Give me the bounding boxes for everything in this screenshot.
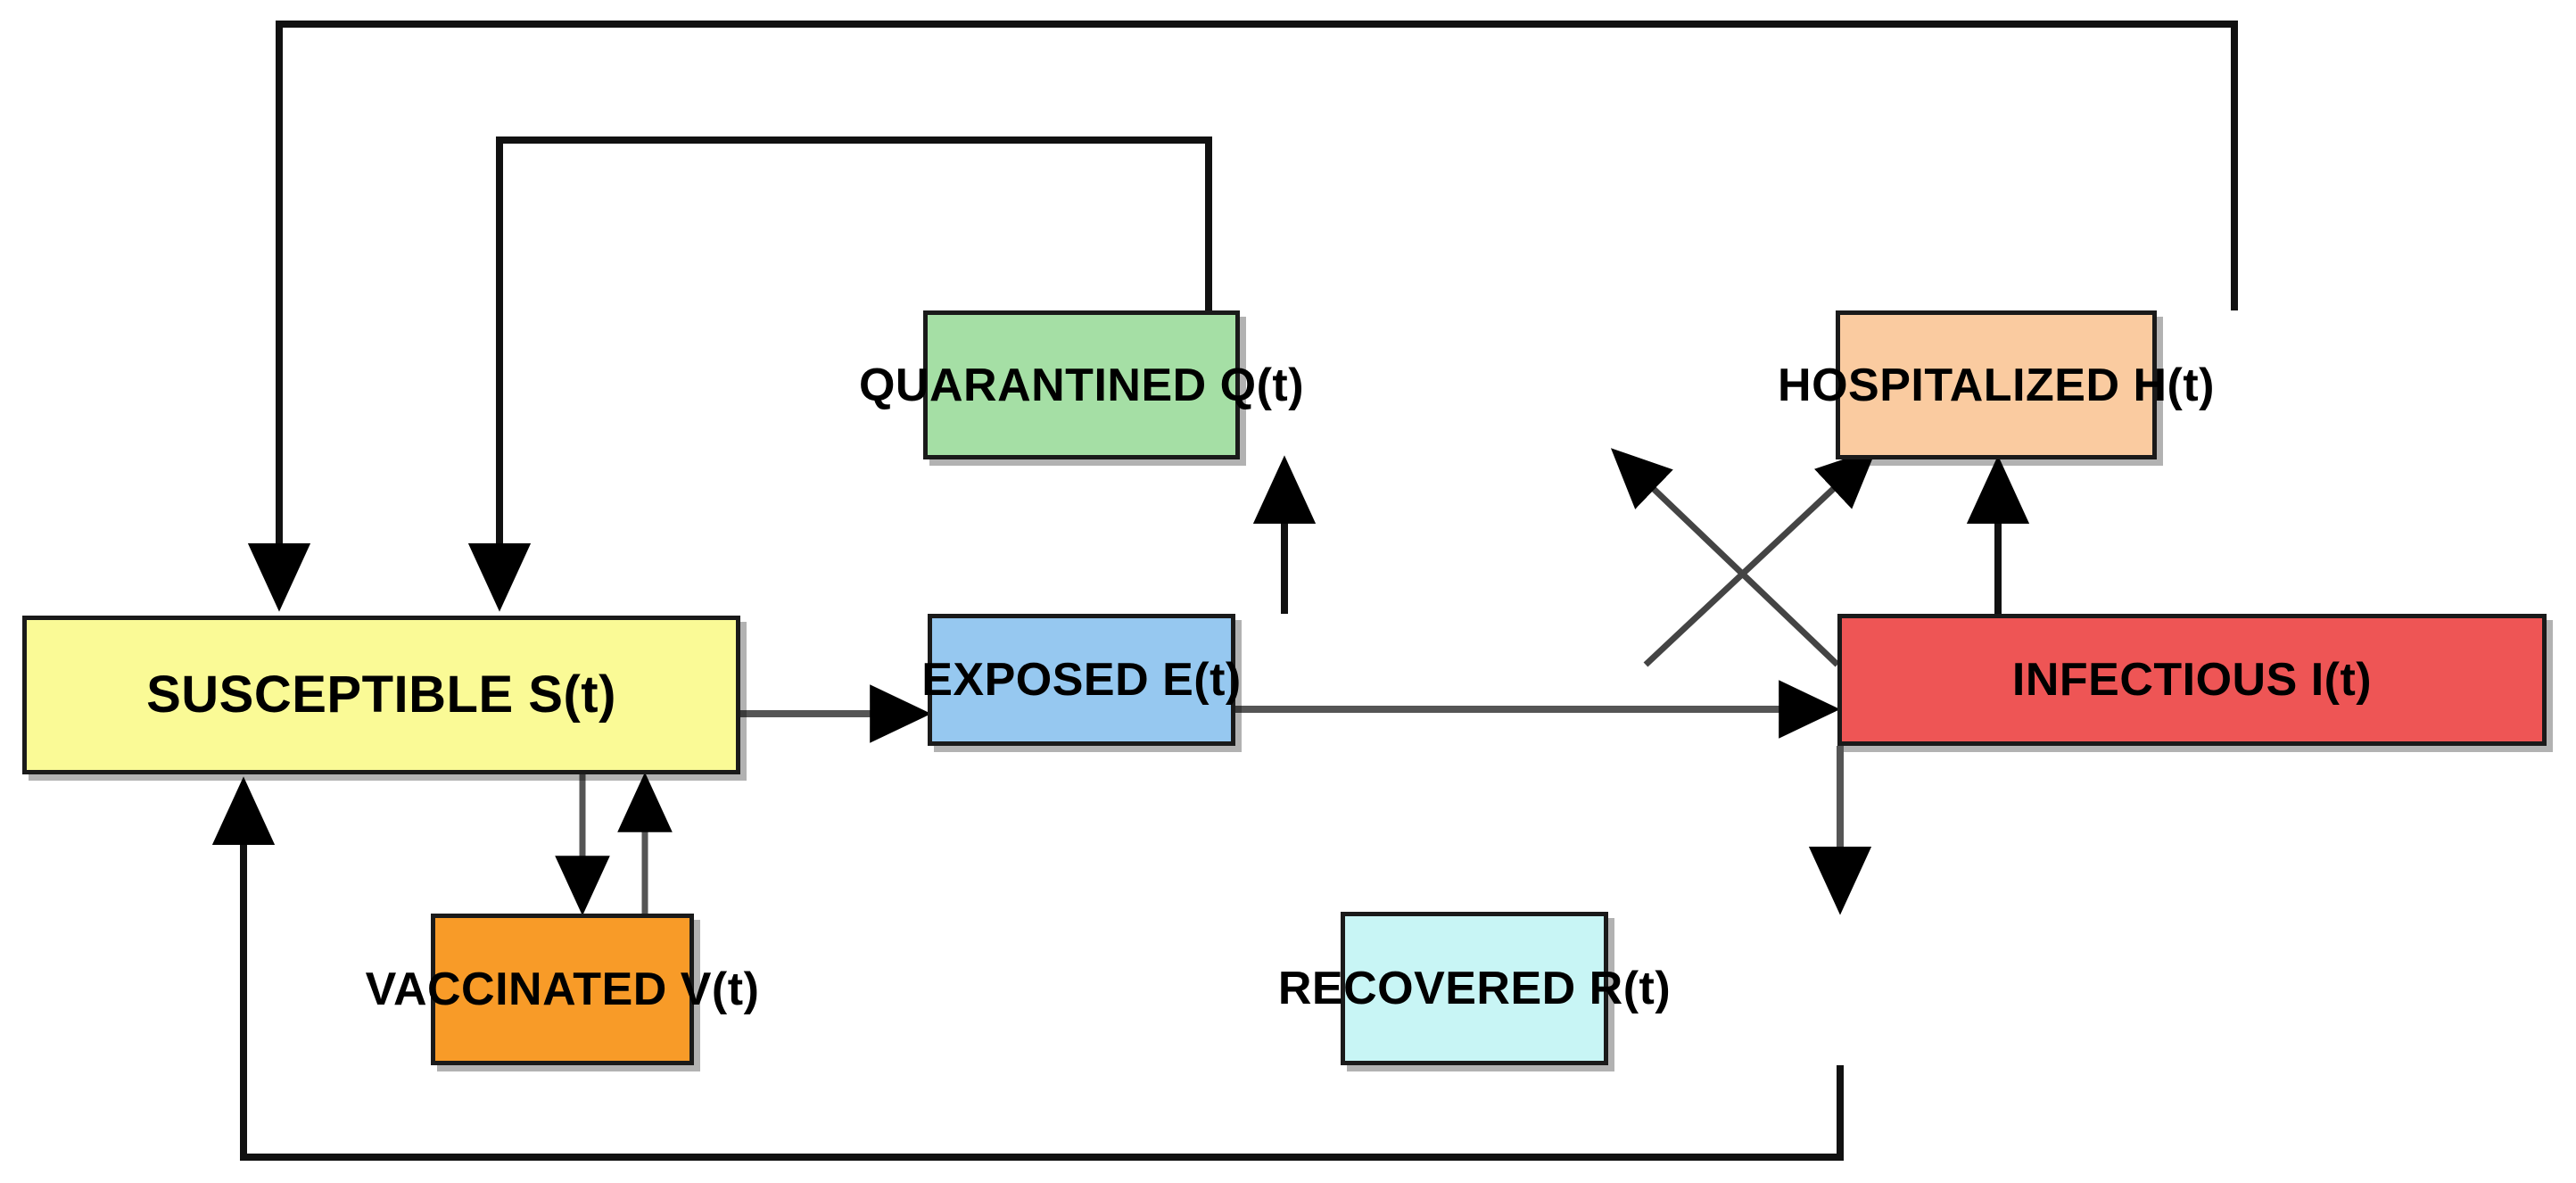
node-quarantined[interactable]: QUARANTINED Q(t) <box>923 310 1240 459</box>
node-recovered[interactable]: RECOVERED R(t) <box>1341 912 1608 1065</box>
node-vaccinated-label: VACCINATED V(t) <box>366 966 760 1013</box>
node-susceptible[interactable]: SUSCEPTIBLE S(t) <box>22 616 740 774</box>
node-quarantined-label: QUARANTINED Q(t) <box>859 362 1304 409</box>
node-recovered-label: RECOVERED R(t) <box>1278 965 1671 1012</box>
edge-infectious-to-quarantined <box>1616 453 1837 665</box>
node-exposed[interactable]: EXPOSED E(t) <box>928 614 1235 746</box>
node-hospitalized[interactable]: HOSPITALIZED H(t) <box>1836 310 2157 459</box>
node-susceptible-label: SUSCEPTIBLE S(t) <box>146 669 616 721</box>
node-infectious[interactable]: INFECTIOUS I(t) <box>1837 614 2547 746</box>
node-hospitalized-label: HOSPITALIZED H(t) <box>1778 362 2215 409</box>
node-infectious-label: INFECTIOUS I(t) <box>2012 657 2372 703</box>
node-exposed-label: EXPOSED E(t) <box>921 657 1242 703</box>
diagram-canvas: SUSCEPTIBLE S(t) QUARANTINED Q(t) HOSPIT… <box>0 0 2576 1183</box>
node-vaccinated[interactable]: VACCINATED V(t) <box>431 914 694 1065</box>
